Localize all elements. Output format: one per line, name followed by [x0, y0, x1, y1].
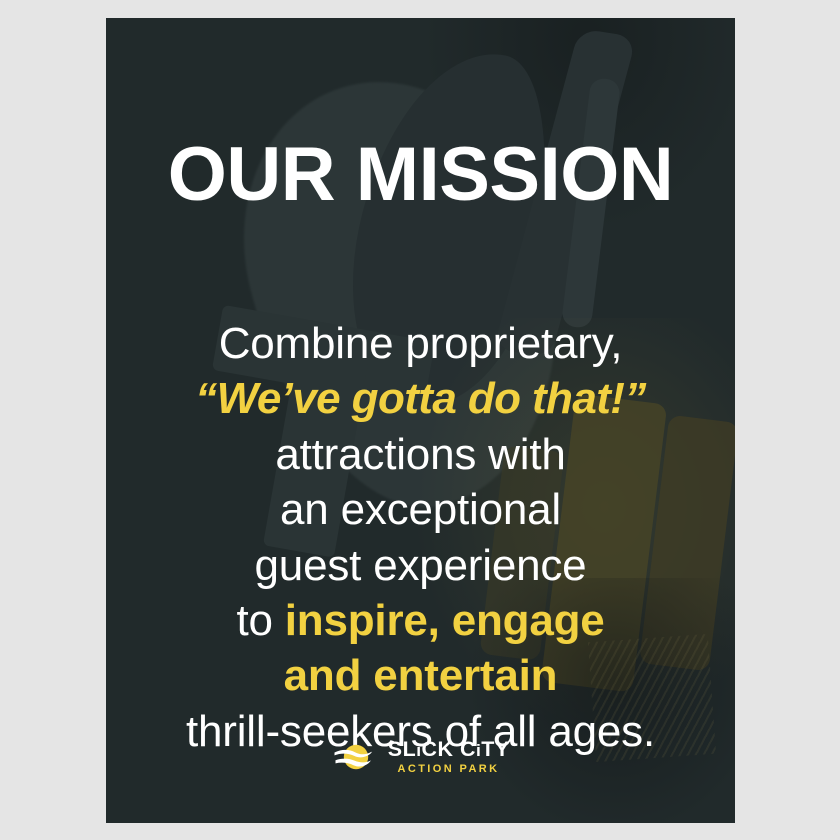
mission-line-3: attractions with: [106, 427, 735, 482]
mission-line-7: and entertain: [106, 648, 735, 703]
slick-city-swoosh-icon: [333, 742, 379, 772]
page-title: OUR MISSION: [168, 137, 673, 213]
logo-primary-part-b: CK C: [421, 738, 475, 761]
brand-logo: SLiCK CiTY ACTION PARK: [106, 739, 735, 775]
logo-wordmark: SLiCK CiTY ACTION PARK: [389, 739, 509, 775]
mission-line-1-text: Combine proprietary,: [219, 319, 623, 368]
mission-line-1: Combine proprietary,: [106, 316, 735, 371]
mission-poster: OUR MISSION Combine proprietary, “We’ve …: [106, 18, 735, 823]
mission-line-6: to inspire, engage: [106, 593, 735, 648]
logo-primary-part-i2: i: [476, 741, 481, 760]
logo-primary-text: SLiCK CiTY: [388, 739, 510, 760]
mission-line-5: guest experience: [106, 538, 735, 593]
mission-line-5-text: guest experience: [255, 541, 587, 590]
mission-line-3-text: attractions with: [275, 430, 565, 479]
logo-primary-part-a: SL: [388, 738, 416, 761]
poster-content: OUR MISSION Combine proprietary, “We’ve …: [106, 18, 735, 823]
logo-secondary-text: ACTION PARK: [398, 764, 500, 775]
mission-line-2-quote: “We’ve gotta do that!”: [195, 374, 645, 423]
logo-primary-part-c: TY: [481, 738, 509, 761]
mission-line-6-prefix: to: [236, 596, 284, 645]
mission-line-4-text: an exceptional: [280, 485, 561, 534]
mission-line-6-accent: inspire, engage: [285, 596, 605, 645]
mission-line-7-accent: and entertain: [284, 651, 558, 700]
mission-statement: Combine proprietary, “We’ve gotta do tha…: [106, 316, 735, 760]
mission-line-2: “We’ve gotta do that!”: [106, 371, 735, 426]
mission-line-4: an exceptional: [106, 482, 735, 537]
